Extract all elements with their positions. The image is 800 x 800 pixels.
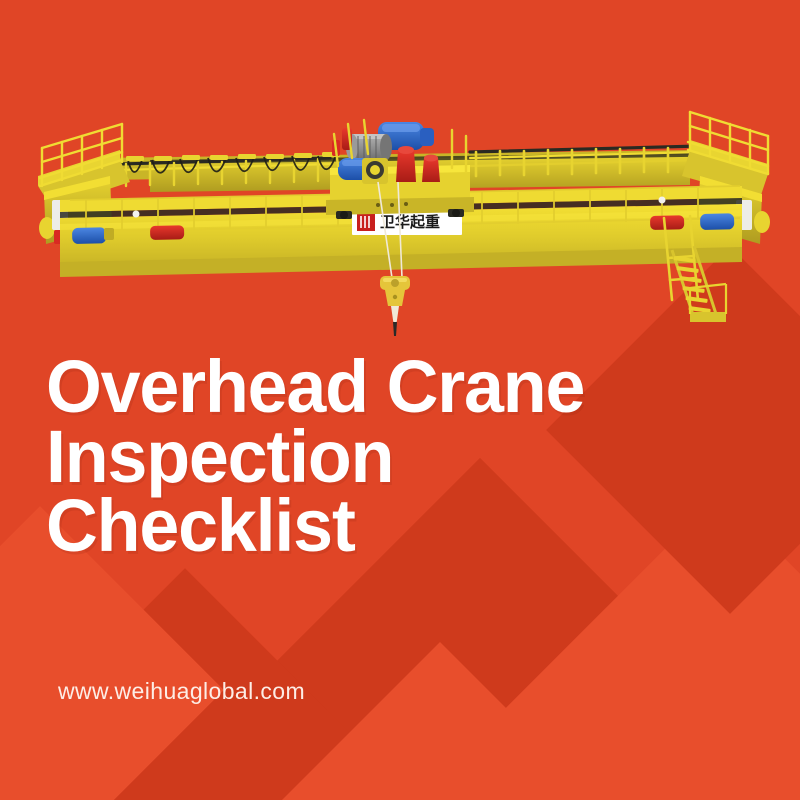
hook-block [380,276,410,336]
poster-canvas: 卫华起重 [0,0,800,800]
title-line-1: Overhead Crane [46,352,764,422]
hoist-trolley [326,120,474,219]
crane-illustration: 卫华起重 [0,0,800,360]
page-title: Overhead Crane Inspection Checklist [46,352,786,561]
title-line-3: Checklist [46,491,764,561]
title-line-2: Inspection [46,422,764,492]
website-url[interactable]: www.weihuaglobal.com [58,678,305,705]
sheave-housing [362,158,388,184]
brand-text: 卫华起重 [380,213,440,231]
